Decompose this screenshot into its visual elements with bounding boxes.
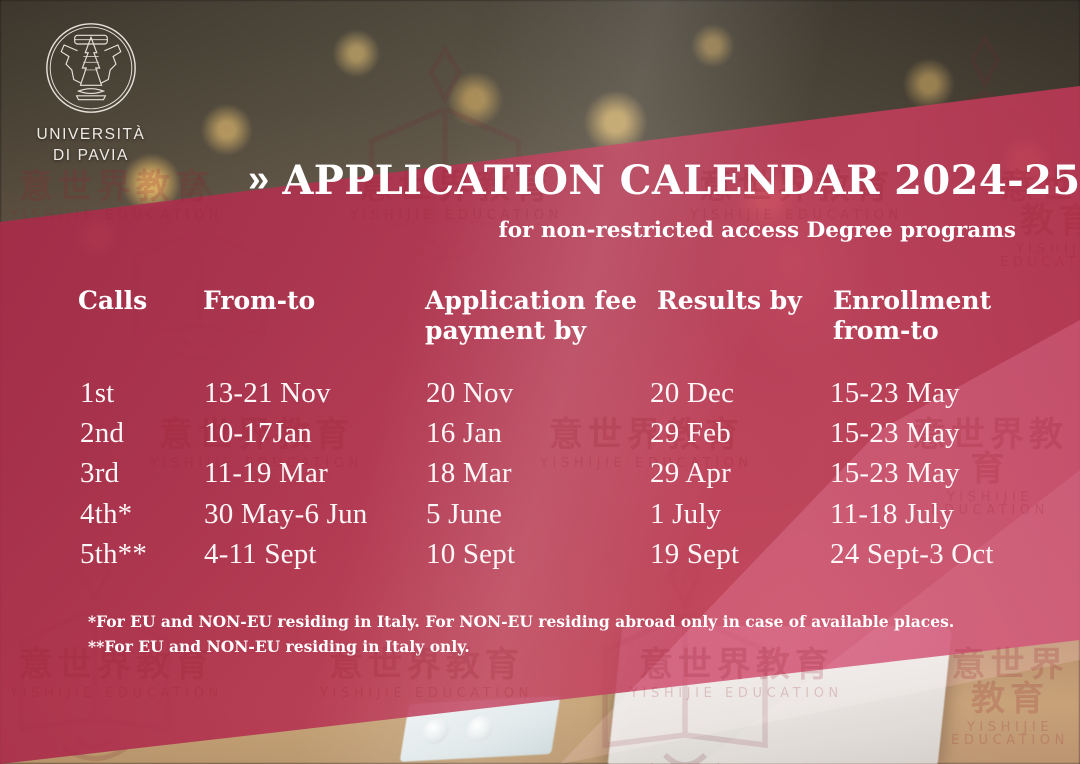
poster-canvas: 意世界教育 YISHIJIE EDUCATION 意世界教育 YISHIJIE …: [0, 0, 1080, 764]
cell-fee-by: 5 June: [426, 500, 502, 529]
cell-from-to: 11-19 Mar: [204, 459, 328, 488]
cell-from-to: 4-11 Sept: [204, 540, 317, 569]
cell-fee-by: 16 Jan: [426, 419, 502, 448]
university-name-line2: DI PAVIA: [26, 146, 156, 167]
page-title: APPLICATION CALENDAR 2024-25: [282, 161, 1080, 201]
footnote-double-asterisk: **For EU and NON-EU residing in Italy on…: [88, 634, 954, 659]
cell-from-to: 30 May-6 Jun: [204, 500, 368, 529]
university-name: UNIVERSITÀ DI PAVIA: [26, 125, 156, 167]
cell-results-by: 1 July: [650, 500, 721, 529]
column-header-calls: Calls: [78, 286, 147, 316]
cell-results-by: 29 Feb: [650, 419, 731, 448]
cell-enrollment: 15-23 May: [830, 379, 960, 408]
cell-call: 3rd: [80, 459, 119, 488]
title-row: ›› APPLICATION CALENDAR 2024-25: [248, 161, 1080, 201]
cell-call: 4th*: [80, 500, 132, 529]
page-subtitle: for non-restricted access Degree program…: [498, 218, 1016, 243]
cell-call: 5th**: [80, 540, 147, 569]
cell-from-to: 13-21 Nov: [204, 379, 331, 408]
footnotes: *For EU and NON-EU residing in Italy. Fo…: [88, 609, 954, 659]
cell-from-to: 10-17Jan: [204, 419, 312, 448]
university-logo-block: UNIVERSITÀ DI PAVIA: [26, 20, 156, 167]
cell-results-by: 29 Apr: [650, 459, 731, 488]
cell-call: 2nd: [80, 419, 124, 448]
cell-fee-by: 10 Sept: [426, 540, 515, 569]
cell-enrollment: 11-18 July: [830, 500, 954, 529]
cell-enrollment: 15-23 May: [830, 459, 960, 488]
cell-enrollment: 24 Sept-3 Oct: [830, 540, 994, 569]
column-header-fee-payment: Application fee payment by: [425, 286, 637, 345]
column-header-results-by: Results by: [657, 286, 802, 316]
university-name-line1: UNIVERSITÀ: [26, 125, 156, 146]
footnote-single-asterisk: *For EU and NON-EU residing in Italy. Fo…: [88, 609, 954, 634]
cell-fee-by: 18 Mar: [426, 459, 512, 488]
cell-results-by: 20 Dec: [650, 379, 734, 408]
cell-results-by: 19 Sept: [650, 540, 739, 569]
double-chevron-icon: ››: [248, 160, 265, 198]
university-seal-icon: [43, 20, 139, 116]
column-header-enrollment: Enrollment from-to: [833, 286, 991, 345]
cell-fee-by: 20 Nov: [426, 379, 513, 408]
column-header-from-to: From-to: [203, 286, 315, 316]
cell-call: 1st: [80, 379, 114, 408]
cell-enrollment: 15-23 May: [830, 419, 960, 448]
